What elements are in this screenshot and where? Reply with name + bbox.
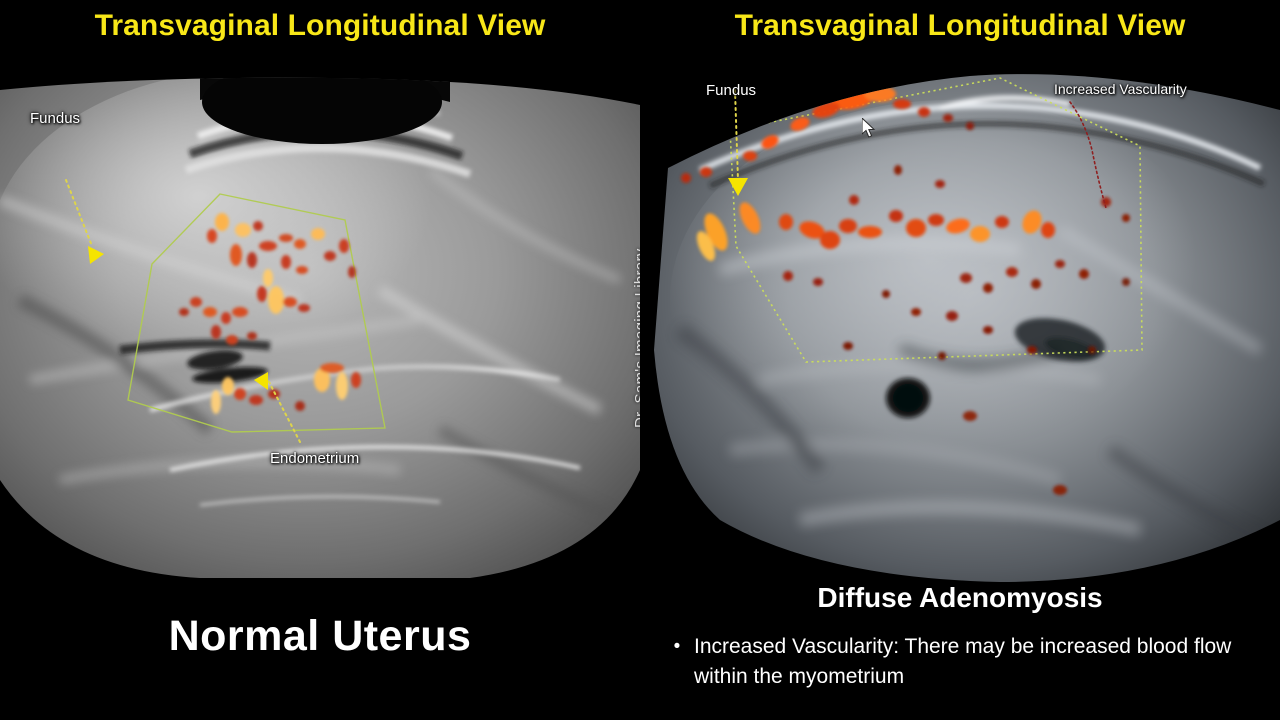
right-panel-title: Transvaginal Longitudinal View [640, 6, 1280, 46]
right-ultrasound-canvas [640, 50, 1280, 582]
left-endometrium-label: Endometrium [270, 450, 359, 467]
finding-text: Increased Vascularity: There may be incr… [694, 632, 1260, 692]
right-vascularity-label: Increased Vascularity [1054, 81, 1187, 97]
right-fundus-label: Fundus [706, 82, 756, 99]
finding-item: • Increased Vascularity: There may be in… [660, 632, 1260, 692]
left-fundus-label: Fundus [30, 110, 80, 127]
left-panel-caption: Normal Uterus [0, 612, 640, 661]
left-ultrasound-canvas [0, 50, 640, 578]
left-comparison-panel: Transvaginal Longitudinal View [0, 0, 640, 720]
left-ultrasound-image: Fundus Endometrium [0, 50, 640, 578]
right-panel-caption: Diffuse Adenomyosis [640, 582, 1280, 614]
screenshot-stage: Transvaginal Longitudinal View [0, 0, 1280, 720]
right-comparison-panel: Transvaginal Longitudinal View [640, 0, 1280, 720]
right-ultrasound-image: Fundus Increased Vascularity [640, 50, 1280, 582]
findings-list: • Increased Vascularity: There may be in… [660, 632, 1260, 692]
left-panel-title: Transvaginal Longitudinal View [0, 6, 640, 46]
bullet-point-icon: • [660, 632, 694, 662]
